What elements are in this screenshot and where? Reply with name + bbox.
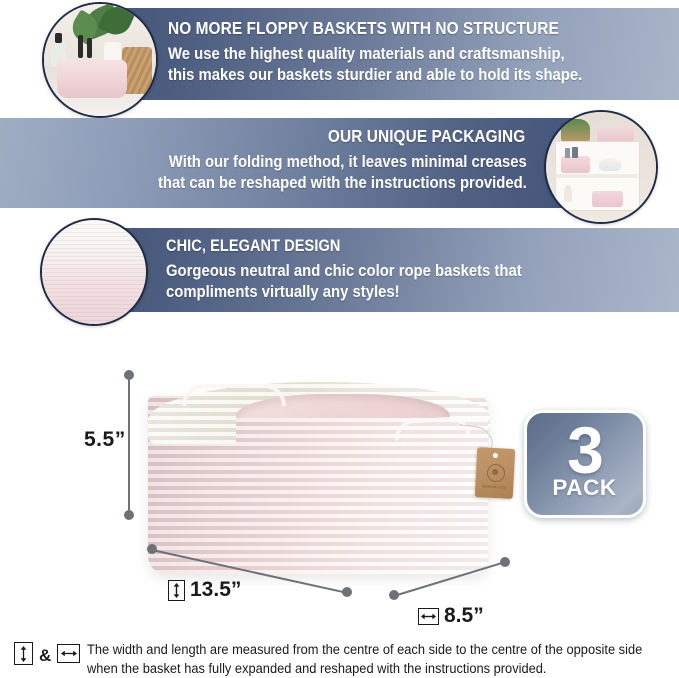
photo-background xyxy=(42,220,146,324)
ceramic-bowl xyxy=(599,158,621,171)
pink-rope-basket xyxy=(57,60,126,98)
height-marker-top xyxy=(124,370,134,380)
banner-body-line2: compliments virtually any styles! xyxy=(166,282,522,303)
photo-background xyxy=(546,112,656,222)
shelf-divider xyxy=(555,174,639,178)
circular-brand-logo-icon xyxy=(487,464,506,483)
vertical-double-arrow-icon xyxy=(14,642,33,665)
banner-body: We use the highest quality materials and… xyxy=(168,44,582,86)
dark-bottle xyxy=(87,38,93,58)
banner-body: With our folding method, it leaves minim… xyxy=(158,152,527,194)
basket-handle-left xyxy=(182,384,286,406)
pack-number: 3 xyxy=(567,423,603,477)
banner-body-line2: this makes our baskets sturdier and able… xyxy=(168,65,582,86)
pack-quantity-badge: 3 PACK xyxy=(524,410,646,518)
pink-white-rope-storage-basket-photo: NaturalCozy xyxy=(140,362,510,592)
width-value: 8.5” xyxy=(444,604,484,628)
decor-object xyxy=(564,185,573,203)
length-value: 13.5” xyxy=(190,578,241,602)
height-dimension-line xyxy=(128,379,130,515)
footnote-line2: when the basket has fully expanded and r… xyxy=(87,659,642,678)
measurement-footnote: & The width and length are measured from… xyxy=(14,640,669,678)
potted-plant xyxy=(561,119,590,143)
banner-headline: NO MORE FLOPPY BASKETS WITH NO STRUCTURE xyxy=(168,18,559,39)
pink-basket-with-plants-photo xyxy=(42,2,158,118)
banner-body-line1: We use the highest quality materials and… xyxy=(168,44,582,65)
basket-front-panel xyxy=(236,418,488,574)
pink-basket-middle xyxy=(561,156,590,173)
width-dimension-label: 8.5” xyxy=(418,604,484,628)
banner-body-line1: With our folding method, it leaves minim… xyxy=(158,152,527,173)
height-value: 5.5” xyxy=(84,428,126,452)
length-dimension-label: 13.5” xyxy=(168,578,241,602)
rope-texture-closeup-photo xyxy=(40,218,148,326)
white-shelf-with-pink-baskets-photo xyxy=(544,110,658,224)
height-dimension-label: 5.5” xyxy=(84,428,126,452)
banner-body: Gorgeous neutral and chic color rope bas… xyxy=(166,261,522,303)
banner-headline: CHIC, ELEGANT DESIGN xyxy=(166,237,340,256)
width-marker-end xyxy=(500,557,510,567)
footnote-ampersand: & xyxy=(39,644,51,664)
length-marker-end xyxy=(342,587,352,597)
pink-basket-top xyxy=(597,127,634,141)
footnote-line1: The width and length are measured from t… xyxy=(87,640,642,659)
height-marker-bottom xyxy=(124,510,134,520)
book xyxy=(572,147,578,158)
footnote-text: The width and length are measured from t… xyxy=(87,640,642,678)
footnote-icons: & xyxy=(14,640,80,665)
infographic-canvas: NO MORE FLOPPY BASKETS WITH NO STRUCTURE… xyxy=(0,0,679,673)
vertical-double-arrow-icon xyxy=(168,580,185,601)
pink-basket-bottom xyxy=(592,191,623,206)
product-hangtag: NaturalCozy xyxy=(475,447,516,499)
book xyxy=(565,148,571,158)
banner-headline: OUR UNIQUE PACKAGING xyxy=(328,126,525,147)
feature-banner-chic-design: CHIC, ELEGANT DESIGN Gorgeous neutral an… xyxy=(104,228,679,312)
photo-background xyxy=(44,4,156,116)
horizontal-double-arrow-icon xyxy=(418,608,439,625)
feature-banner-unique-packaging: OUR UNIQUE PACKAGING With our folding me… xyxy=(0,118,575,208)
banner-body-line1: Gorgeous neutral and chic color rope bas… xyxy=(166,261,522,282)
length-marker-start xyxy=(147,544,157,554)
banner-body-line2: that can be reshaped with the instructio… xyxy=(158,173,527,194)
feature-banner-no-structure: NO MORE FLOPPY BASKETS WITH NO STRUCTURE… xyxy=(104,8,679,100)
width-marker-start xyxy=(389,590,399,600)
dark-bottle xyxy=(55,33,62,43)
dark-bottle xyxy=(78,35,84,57)
hangtag-hole xyxy=(493,453,498,458)
pack-word: PACK xyxy=(553,475,617,501)
horizontal-double-arrow-icon xyxy=(57,644,80,663)
hangtag-brand: NaturalCozy xyxy=(475,483,513,490)
